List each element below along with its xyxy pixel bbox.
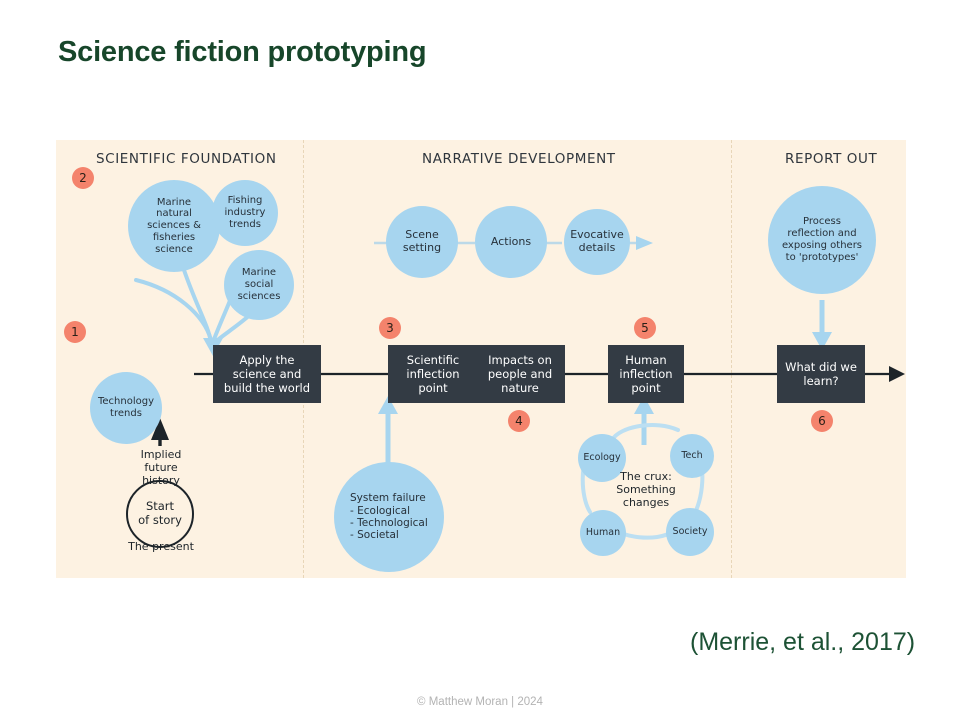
box-scientific-inflection-point[interactable]: Scientific inflection point [388,345,478,403]
marker-3[interactable]: 3 [379,317,401,339]
bubble-scene-setting[interactable]: Scene setting [386,206,458,278]
bubble-technology-trends[interactable]: Technology trends [90,372,162,444]
system-failure-title: System failure [350,492,426,504]
bubble-evocative-details[interactable]: Evocative details [564,209,630,275]
box-impacts-people-nature[interactable]: Impacts on people and nature [475,345,565,403]
marker-2[interactable]: 2 [72,167,94,189]
marker-4[interactable]: 4 [508,410,530,432]
bubble-marine-social-sciences[interactable]: Marine social sciences [224,250,294,320]
label-the-present: The present [110,540,212,553]
node-start-of-story[interactable]: Start of story [126,480,194,548]
column-divider-2 [731,140,732,578]
crux-center-label: The crux: Something changes [594,470,698,510]
bubble-fishing-industry-trends[interactable]: Fishing industry trends [212,180,278,246]
box-what-did-we-learn[interactable]: What did we learn? [777,345,865,403]
page-title: Science fiction prototyping [58,36,426,69]
citation: (Merrie, et al., 2017) [690,628,915,657]
bubble-actions[interactable]: Actions [475,206,547,278]
bubble-crux-human[interactable]: Human [580,510,626,556]
system-failure-item-0: - Ecological [350,505,410,517]
diagram-panel: SCIENTIFIC FOUNDATION NARRATIVE DEVELOPM… [56,140,906,578]
system-failure-item-2: - Societal [350,529,399,541]
column-header-narrative-development: NARRATIVE DEVELOPMENT [422,151,616,167]
start-of-story-label: Start of story [138,500,182,528]
column-header-scientific-foundation: SCIENTIFIC FOUNDATION [96,151,277,167]
bubble-process-reflection[interactable]: Process reflection and exposing others t… [768,186,876,294]
box-apply-science[interactable]: Apply the science and build the world [213,345,321,403]
marker-6[interactable]: 6 [811,410,833,432]
marker-1[interactable]: 1 [64,321,86,343]
bubble-crux-society[interactable]: Society [666,508,714,556]
footer-credit: © Matthew Moran | 2024 [0,696,960,708]
box-human-inflection-point[interactable]: Human inflection point [608,345,684,403]
bubble-marine-natural-sciences[interactable]: Marine natural sciences & fisheries scie… [128,180,220,272]
marker-5[interactable]: 5 [634,317,656,339]
bubble-system-failure[interactable]: System failure - Ecological - Technologi… [334,462,444,572]
column-header-report-out: REPORT OUT [785,151,877,167]
system-failure-item-1: - Technological [350,517,428,529]
label-implied-future-history: Implied future history [118,448,204,488]
